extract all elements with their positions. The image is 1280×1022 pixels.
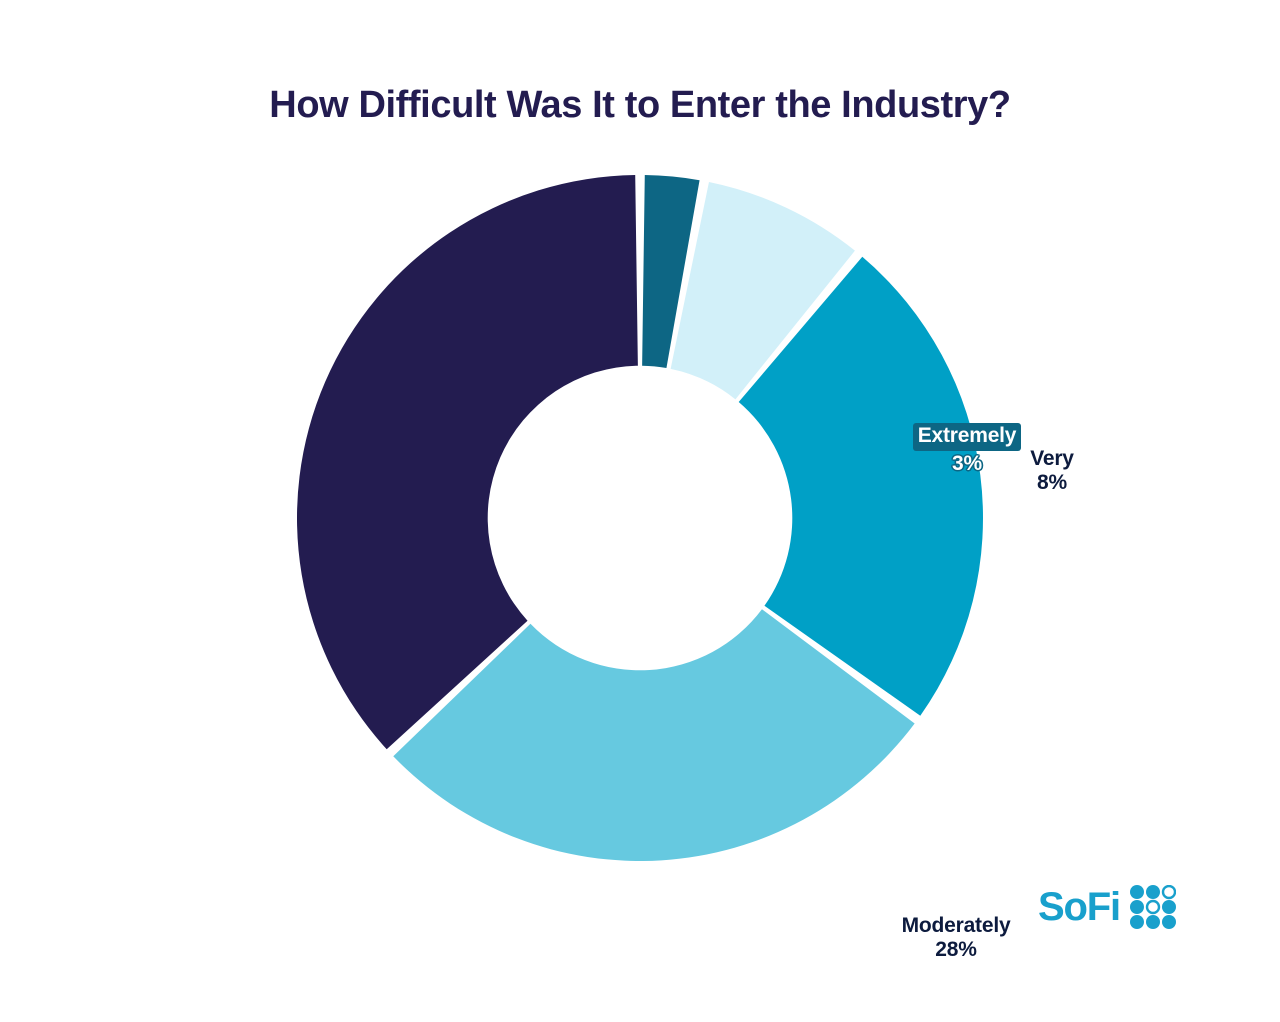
sofi-dot [1146, 885, 1160, 899]
slice-label-slightly: Slightly 24% [1097, 638, 1273, 685]
slice-label-moderately-name: Moderately [853, 914, 1059, 938]
sofi-dot [1162, 915, 1176, 929]
slice-label-slightly-value: 24% [1097, 662, 1273, 686]
page-title: How Difficult Was It to Enter the Indust… [0, 84, 1280, 128]
sofi-dot [1163, 886, 1175, 898]
sofi-dot [1162, 900, 1176, 914]
chart-page: How Difficult Was It to Enter the Indust… [0, 0, 1280, 1022]
sofi-dot [1147, 901, 1159, 913]
donut-chart: Extremely 3% Very 8% Slightly 24% Modera… [297, 175, 983, 861]
slice-label-very-name: Very [965, 447, 1139, 471]
sofi-logo: SoFi [1038, 885, 1176, 929]
donut-slice-group [297, 175, 983, 861]
sofi-dot-grid-icon [1130, 885, 1176, 929]
slice-label-moderately-value: 28% [853, 938, 1059, 962]
sofi-wordmark: SoFi [1038, 887, 1120, 927]
sofi-dot [1146, 915, 1160, 929]
sofi-dot [1130, 900, 1144, 914]
slice-label-very-value: 8% [965, 471, 1139, 495]
sofi-dot [1130, 915, 1144, 929]
slice-label-moderately: Moderately 28% [853, 914, 1059, 961]
sofi-dot [1130, 885, 1144, 899]
slice-label-very: Very 8% [965, 447, 1139, 494]
sofi-dot-accent [1170, 923, 1174, 927]
donut-chart-svg [297, 175, 983, 861]
slice-label-slightly-name: Slightly [1097, 638, 1273, 662]
